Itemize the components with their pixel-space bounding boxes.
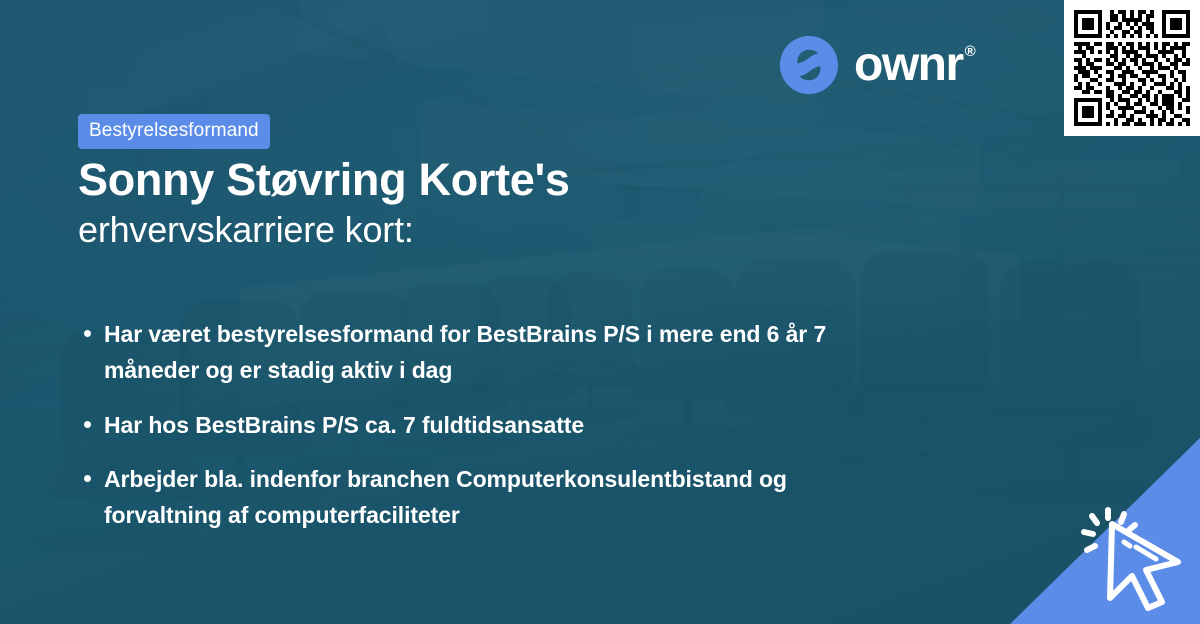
ownr-swirl-circle-icon (778, 34, 840, 96)
click-cursor-sparkle-icon (1074, 502, 1194, 614)
list-item: Arbejder bla. indenfor branchen Computer… (78, 461, 908, 534)
list-item-text: Har været bestyrelsesformand for BestBra… (104, 321, 826, 383)
list-item: Har hos BestBrains P/S ca. 7 fuldtidsans… (78, 407, 908, 443)
role-badge: Bestyrelsesformand (78, 114, 270, 149)
bullet-dot-icon (84, 330, 91, 337)
brand-name: ownr (854, 41, 963, 89)
list-item-text: Arbejder bla. indenfor branchen Computer… (104, 466, 787, 528)
brand-logo: ownr ® (778, 34, 976, 96)
card-content: Bestyrelsesformand Sonny Støvring Korte'… (0, 0, 1200, 624)
page-title: Sonny Støvring Korte's erhvervskarriere … (78, 157, 978, 252)
registered-trademark-icon: ® (965, 44, 976, 59)
list-item: Har været bestyrelsesformand for BestBra… (78, 316, 908, 389)
bullet-dot-icon (84, 475, 91, 482)
list-item-text: Har hos BestBrains P/S ca. 7 fuldtidsans… (104, 412, 584, 438)
title-line-1: Sonny Støvring Korte's (78, 157, 978, 203)
bullet-dot-icon (84, 421, 91, 428)
career-card: Bestyrelsesformand Sonny Støvring Korte'… (0, 0, 1200, 624)
qr-code[interactable] (1064, 0, 1200, 136)
title-line-2: erhvervskarriere kort: (78, 207, 978, 252)
qr-code-icon (1074, 10, 1190, 126)
fact-list: Har været bestyrelsesformand for BestBra… (78, 316, 908, 534)
brand-wordmark: ownr ® (854, 41, 976, 89)
